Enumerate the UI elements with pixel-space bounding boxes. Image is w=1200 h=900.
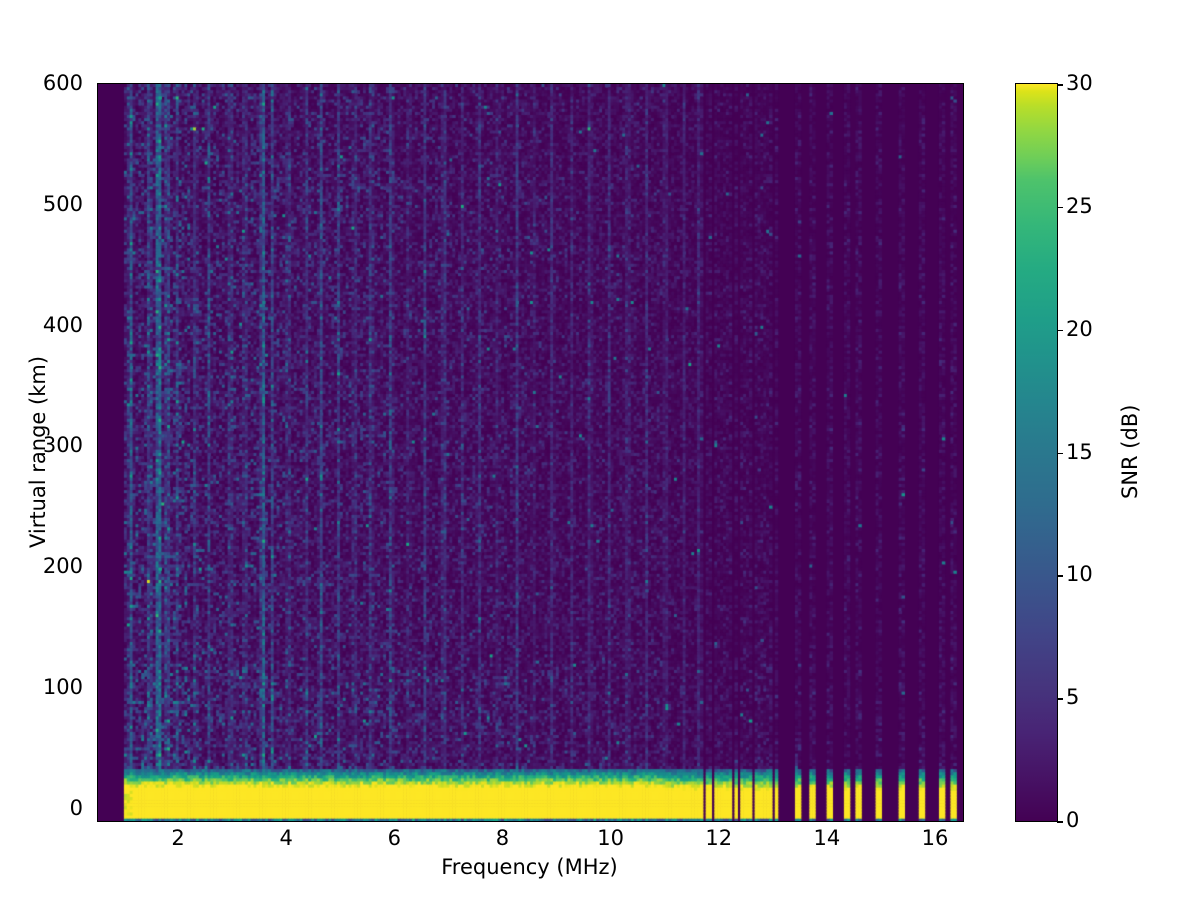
colorbar-label: SNR (dB) [1118,404,1142,498]
colorbar-tick-mark [1057,575,1063,577]
x-tick-label: 12 [705,826,732,850]
y-tick-label: 300 [0,433,83,457]
ionogram-figure: IRF Uppsala SDR Ionosonde UP158 2025-12-… [0,0,1200,900]
colorbar-tick-label: 0 [1066,808,1079,832]
colorbar-tick-label: 25 [1066,194,1093,218]
x-tick-label: 6 [388,826,401,850]
x-tick-mark [179,821,181,822]
colorbar-tick-mark [1057,330,1063,332]
colorbar-tick-label: 30 [1066,71,1093,95]
snr-colorbar [1015,83,1058,822]
x-tick-mark [720,821,722,822]
x-tick-label: 8 [496,826,509,850]
x-axis-label: Frequency (MHz) [97,855,962,879]
heatmap-axes [97,83,964,822]
x-tick-label: 16 [922,826,949,850]
x-tick-mark [287,821,289,822]
x-tick-mark [828,821,830,822]
y-tick-label: 100 [0,675,83,699]
colorbar-tick-mark [1057,698,1063,700]
ionogram-heatmap [98,84,963,821]
y-tick-label: 0 [0,796,83,820]
colorbar-tick-mark [1057,207,1063,209]
x-tick-mark [936,821,938,822]
colorbar-tick-mark [1057,84,1063,86]
y-tick-label: 200 [0,554,83,578]
y-tick-label: 600 [0,71,83,95]
y-tick-label: 400 [0,313,83,337]
colorbar-tick-label: 20 [1066,317,1093,341]
y-tick-label: 500 [0,192,83,216]
x-tick-mark [612,821,614,822]
x-tick-label: 10 [597,826,624,850]
x-tick-label: 14 [813,826,840,850]
colorbar-tick-label: 15 [1066,440,1093,464]
colorbar-tick-label: 5 [1066,685,1079,709]
colorbar-tick-label: 10 [1066,562,1093,586]
x-tick-label: 4 [280,826,293,850]
x-tick-mark [503,821,505,822]
x-tick-mark [395,821,397,822]
colorbar-tick-mark [1057,453,1063,455]
colorbar-tick-mark [1057,821,1063,823]
x-tick-label: 2 [171,826,184,850]
